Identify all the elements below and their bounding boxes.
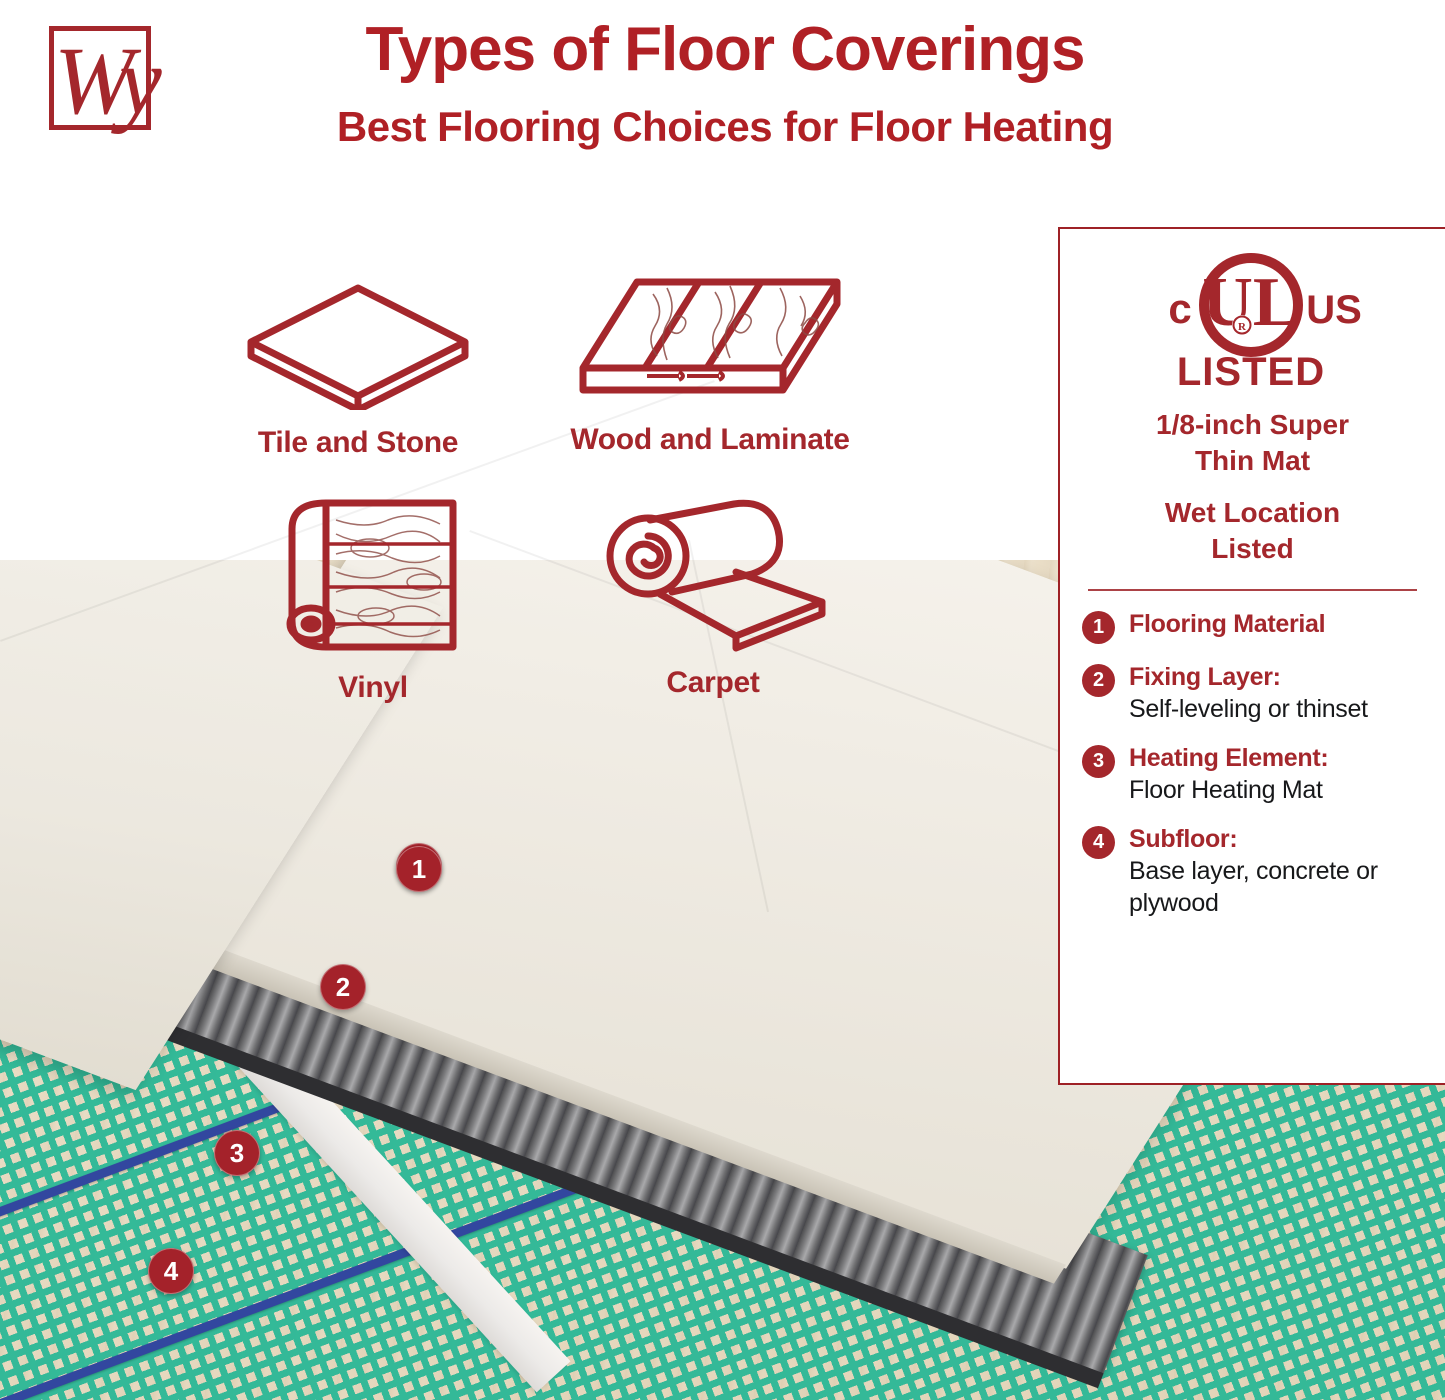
page-subtitle: Best Flooring Choices for Floor Heating	[280, 98, 1170, 156]
spec-headline-line1: 1/8-inch Super	[1060, 407, 1445, 443]
covering-label: Vinyl	[258, 671, 488, 705]
page-title: Types of Floor Coverings	[320, 10, 1130, 90]
infographic-canvas: WarmlyYours WarmlyYours WarmlyYours	[0, 0, 1445, 1400]
wood-plank-icon	[575, 272, 845, 407]
legend-item-2: 2 Fixing Layer: Self-leveling or thinset	[1082, 662, 1427, 725]
legend-title-4: Subfloor:	[1129, 824, 1427, 855]
svg-text:LISTED: LISTED	[1176, 350, 1324, 394]
legend-item-4: 4 Subfloor: Base layer, concrete or plyw…	[1082, 824, 1427, 919]
svg-text:c: c	[1168, 285, 1191, 332]
covering-tile-and-stone: Tile and Stone	[233, 280, 483, 460]
tile-slab-icon	[243, 280, 473, 410]
warmlyyours-logo: Wy	[40, 18, 160, 143]
legend-badge-4: 4	[1082, 826, 1115, 859]
ul-listed-mark: UL R c US LISTED	[1060, 247, 1445, 407]
legend-badge-2: 2	[1082, 664, 1115, 697]
legend-item-1: 1 Flooring Material	[1082, 609, 1427, 644]
svg-text:US: US	[1306, 288, 1362, 332]
legend-title-3: Heating Element:	[1129, 743, 1328, 774]
svg-text:R: R	[1238, 321, 1247, 333]
panel-divider	[1088, 589, 1417, 591]
legend-badge-1: 1	[1082, 611, 1115, 644]
covering-label: Tile and Stone	[233, 426, 483, 460]
spec-headline-line2: Thin Mat	[1060, 443, 1445, 479]
spec-headline-line4: Listed	[1060, 531, 1445, 567]
legend-badge-3: 3	[1082, 745, 1115, 778]
photo-callout-2: 2	[320, 964, 366, 1010]
legend-item-3: 3 Heating Element: Floor Heating Mat	[1082, 743, 1427, 806]
spec-headline-line3: Wet Location	[1060, 495, 1445, 531]
legend-title-2: Fixing Layer:	[1129, 662, 1368, 693]
photo-callout-4: 4	[148, 1248, 194, 1294]
certification-panel: UL R c US LISTED 1/8-inch Super Thin Mat…	[1058, 227, 1445, 1085]
carpet-roll-icon	[586, 498, 841, 658]
covering-wood-and-laminate: Wood and Laminate	[545, 272, 875, 457]
legend-desc-3: Floor Heating Mat	[1129, 774, 1328, 806]
photo-callout-1: 1	[396, 846, 442, 892]
covering-vinyl: Vinyl	[258, 492, 488, 705]
logo-monogram: Wy	[54, 22, 164, 147]
legend-title-1: Flooring Material	[1129, 609, 1325, 640]
covering-label: Carpet	[583, 666, 843, 700]
photo-callout-3: 3	[214, 1130, 260, 1176]
culus-listed-icon: UL R c US LISTED	[1138, 247, 1368, 397]
legend-desc-4: Base layer, concrete or plywood	[1129, 855, 1427, 919]
covering-label: Wood and Laminate	[545, 423, 875, 457]
vinyl-roll-icon	[278, 492, 468, 657]
legend-desc-2: Self-leveling or thinset	[1129, 693, 1368, 725]
svg-text:UL: UL	[1202, 264, 1299, 341]
covering-carpet: Carpet	[583, 498, 843, 700]
layer-legend-list: 1 Flooring Material 2 Fixing Layer: Self…	[1060, 609, 1445, 919]
